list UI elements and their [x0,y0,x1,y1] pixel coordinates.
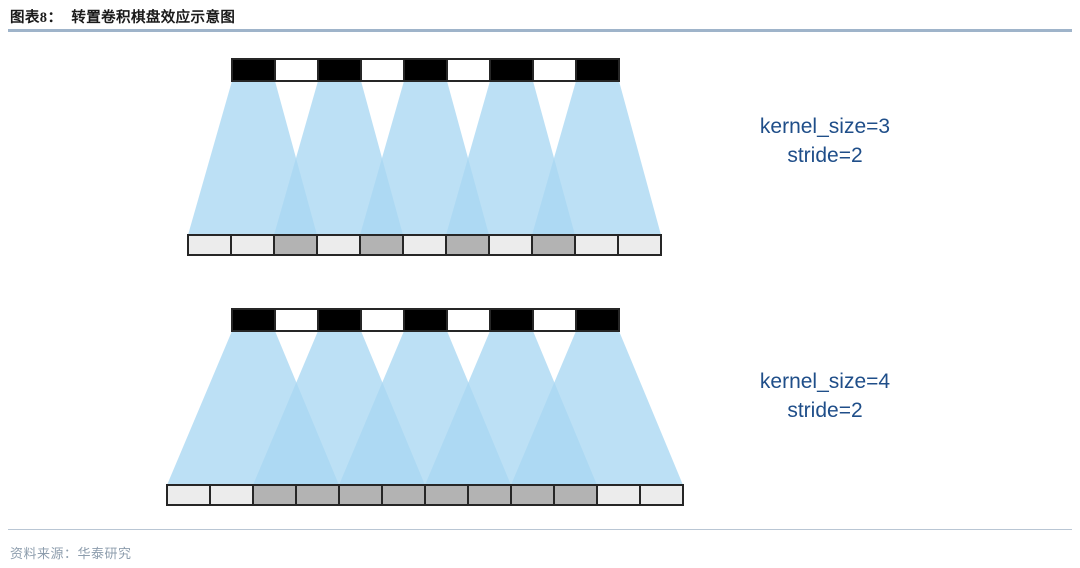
output-cell-overlap [274,235,317,255]
kernel-footprint-group [188,81,661,235]
input-cell-active [404,59,447,81]
diagram-canvas-kernel4 [150,305,710,510]
output-cell-single [210,485,253,505]
kernel-size-text: kernel_size=4 [760,370,890,393]
input-cell-active [318,59,361,81]
input-cell-zero [533,59,576,81]
page-title: 图表8：转置卷积棋盘效应示意图 [10,6,235,27]
output-cell-overlap [253,485,296,505]
input-cell-zero [361,59,404,81]
output-cell-single [618,235,661,255]
header-divider [8,29,1072,32]
figure-title-text: 转置卷积棋盘效应示意图 [71,10,235,26]
input-cell-zero [361,309,404,331]
source-note: 资料来源：华泰研究 [10,543,132,562]
kernel-footprint-group [167,331,683,485]
diagram-canvas-kernel3 [150,55,680,260]
output-cell-single [188,235,231,255]
output-cell-overlap [360,235,403,255]
footer-divider [8,529,1072,530]
output-cell-single [575,235,618,255]
output-cell-single [597,485,640,505]
output-cell-overlap [554,485,597,505]
kernel-size-text: kernel_size=3 [760,115,890,138]
input-feature-row [232,59,619,81]
output-cell-overlap [468,485,511,505]
output-cell-single [231,235,274,255]
diagram-transposed-conv-kernel3 [150,55,680,260]
input-feature-row [232,309,619,331]
input-cell-active [576,309,619,331]
output-cell-overlap [339,485,382,505]
output-cell-overlap [296,485,339,505]
param-label-kernel3: kernel_size=3 stride=2 [700,112,950,170]
input-cell-active [576,59,619,81]
input-cell-zero [275,309,318,331]
input-cell-zero [533,309,576,331]
output-cell-single [317,235,360,255]
output-cell-single [489,235,532,255]
output-feature-row [167,485,683,505]
output-feature-row [188,235,661,255]
input-cell-active [404,309,447,331]
output-cell-single [403,235,446,255]
output-cell-overlap [425,485,468,505]
input-cell-zero [275,59,318,81]
figure-number: 图表8： [10,10,71,26]
diagram-transposed-conv-kernel4 [150,305,710,510]
stride-text: stride=2 [700,396,950,425]
input-cell-active [232,309,275,331]
output-cell-overlap [382,485,425,505]
output-cell-overlap [511,485,554,505]
output-cell-overlap [446,235,489,255]
input-cell-active [490,59,533,81]
input-cell-active [318,309,361,331]
input-cell-active [232,59,275,81]
input-cell-active [490,309,533,331]
output-cell-single [167,485,210,505]
stride-text: stride=2 [700,141,950,170]
output-cell-single [640,485,683,505]
output-cell-overlap [532,235,575,255]
param-label-kernel4: kernel_size=4 stride=2 [700,367,950,425]
input-cell-zero [447,309,490,331]
input-cell-zero [447,59,490,81]
